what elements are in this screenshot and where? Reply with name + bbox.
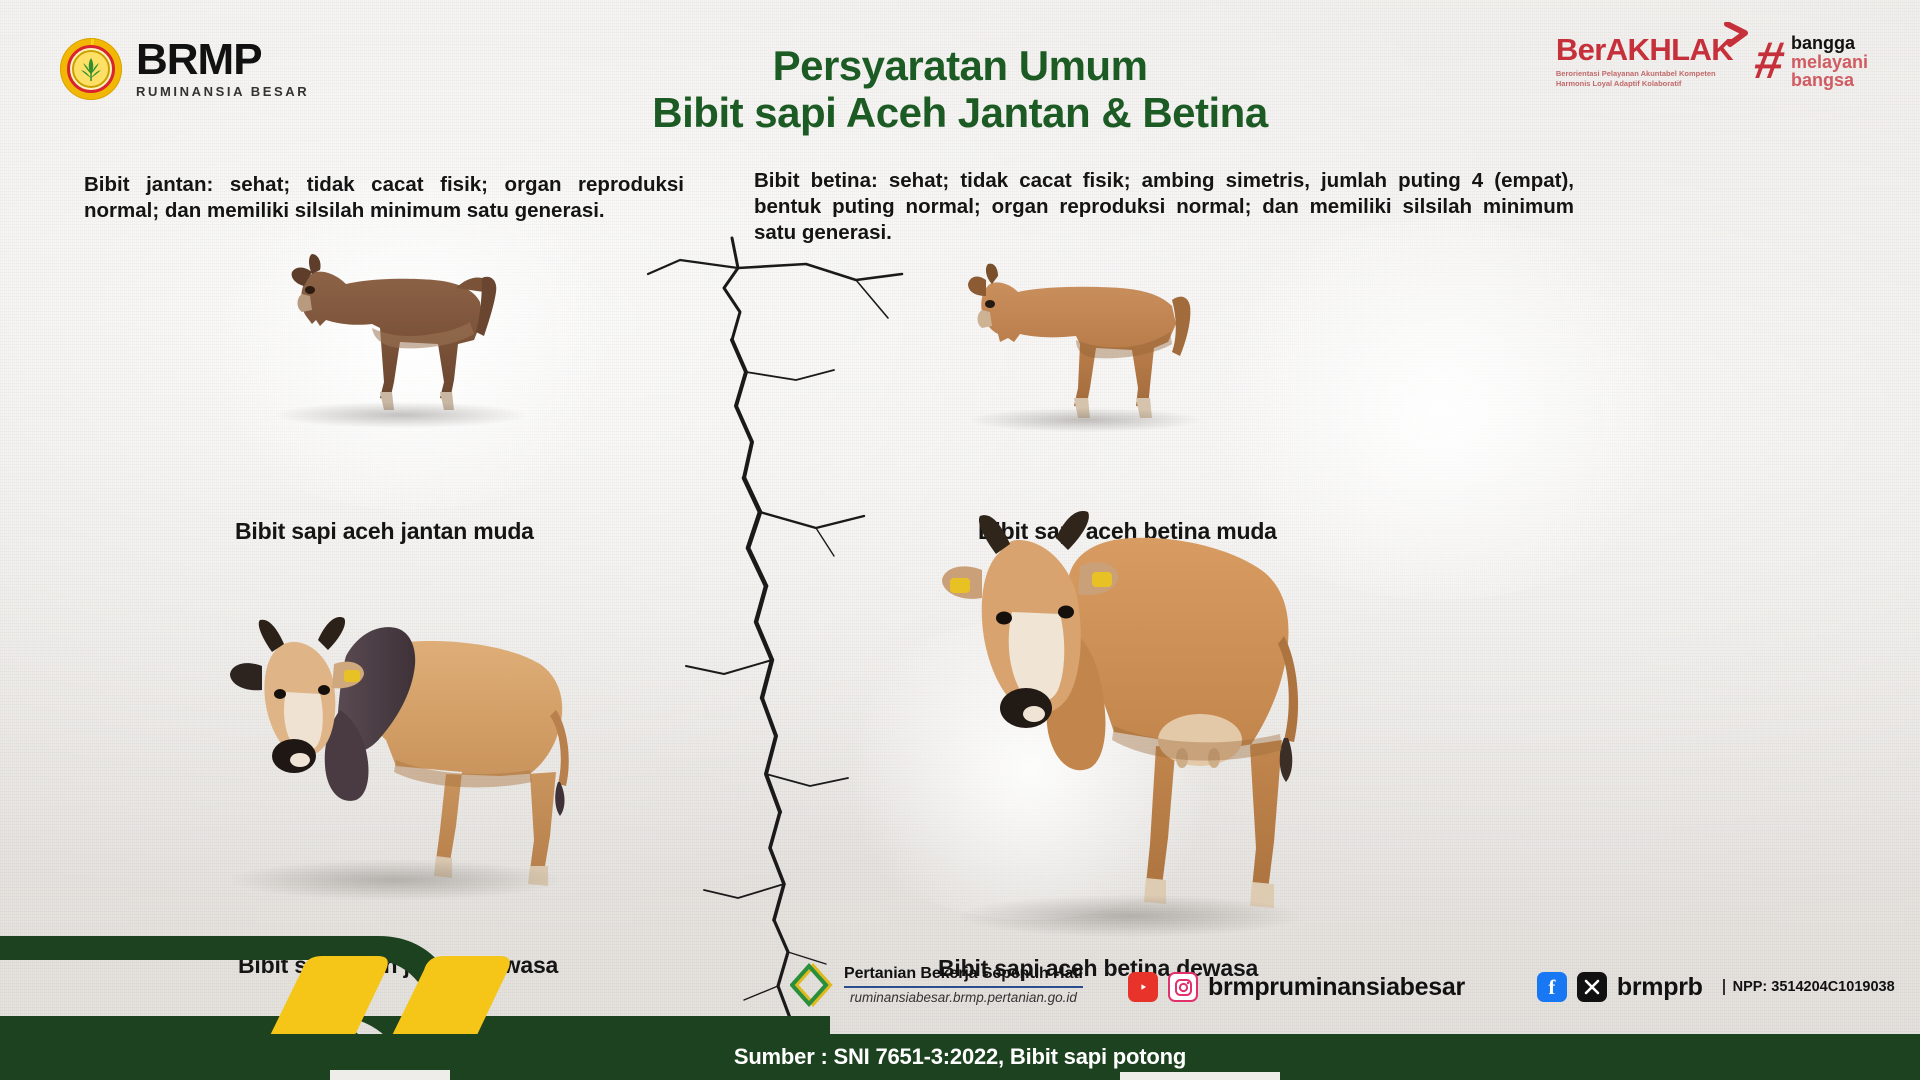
hashtag-icon: # <box>1752 41 1788 83</box>
paragraph-male-requirements: Bibit jantan: sehat; tidak cacat fisik; … <box>84 172 684 224</box>
footer-branding: Pertanian Bekerja Sepenuh Hati ruminansi… <box>790 962 1083 1008</box>
cow-image-male-young <box>268 232 528 422</box>
berakhlak-tagline-2: Harmonis Loyal Adaptif Kolaboratif <box>1556 79 1733 89</box>
berakhlak-swoosh-icon <box>1723 22 1749 57</box>
berakhlak-wordmark: BerAKHLAK <box>1556 32 1733 67</box>
bangga-melayani-bangsa-logo: # bangga melayani bangsa <box>1755 34 1868 90</box>
bangga-line-1: bangga <box>1791 34 1868 53</box>
ministry-of-agriculture-seal-icon <box>60 38 122 100</box>
brmp-logo: BRMP RUMINANSIA BESAR <box>60 38 309 100</box>
social-handle-alt[interactable]: brmprb <box>1617 973 1703 1002</box>
bangga-line-3: bangsa <box>1791 71 1868 90</box>
cow-image-male-adult <box>200 560 580 900</box>
bangga-line-2: melayani <box>1791 53 1868 72</box>
pertanian-logo-icon <box>790 962 836 1008</box>
npp-number: NPP: 3514204C1019038 <box>1723 979 1895 995</box>
infographic-poster: BRMP RUMINANSIA BESAR Persyaratan Umum B… <box>0 0 1920 1080</box>
website-url[interactable]: ruminansiabesar.brmp.pertanian.go.id <box>850 990 1077 1005</box>
caption-male-young: Bibit sapi aceh jantan muda <box>235 518 534 545</box>
berakhlak-logo: BerAKHLAK Berorientasi Pelayanan Akuntab… <box>1556 34 1733 89</box>
source-text: Sumber : SNI 7651-3:2022, Bibit sapi pot… <box>734 1044 1186 1070</box>
twitter-x-icon[interactable] <box>1577 972 1607 1002</box>
berakhlak-tagline-1: Berorientasi Pelayanan Akuntabel Kompete… <box>1556 69 1733 79</box>
brmp-title: BRMP <box>136 39 309 81</box>
facebook-icon[interactable]: f <box>1537 972 1567 1002</box>
cow-image-female-adult <box>900 440 1320 940</box>
government-logos: BerAKHLAK Berorientasi Pelayanan Akuntab… <box>1556 34 1868 90</box>
divider <box>844 986 1083 988</box>
social-handle-main[interactable]: brmpruminansiabesar <box>1208 973 1465 1002</box>
youtube-icon[interactable] <box>1128 972 1158 1002</box>
tani-slogan: Pertanian Bekerja Sepenuh Hati <box>844 965 1083 983</box>
paragraph-female-requirements: Bibit betina: sehat; tidak cacat fisik; … <box>754 168 1574 245</box>
instagram-icon[interactable] <box>1168 972 1198 1002</box>
social-links: brmpruminansiabesar f brmprb NPP: 351420… <box>1128 972 1895 1002</box>
source-bar: Sumber : SNI 7651-3:2022, Bibit sapi pot… <box>0 1034 1920 1080</box>
brmp-subtitle: RUMINANSIA BESAR <box>136 84 309 99</box>
cow-image-female-young <box>960 248 1200 428</box>
caption-male-adult: Bibit sapi aceh jantan dewasa <box>238 952 558 979</box>
